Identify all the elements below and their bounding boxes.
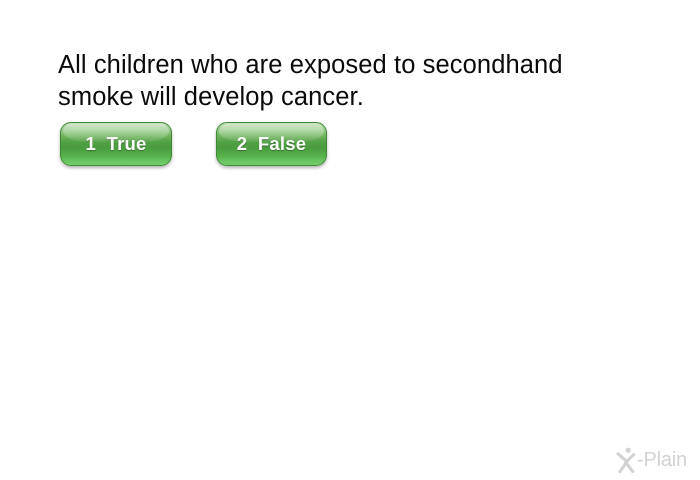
slide-canvas: All children who are exposed to secondha… (0, 0, 700, 480)
question-text: All children who are exposed to secondha… (58, 49, 618, 113)
answer-options-group: 1 True 2 False (60, 122, 660, 172)
answer-button-true-label: 1 True (61, 123, 171, 165)
x-plain-logo: -Plain (616, 446, 696, 474)
answer-button-true[interactable]: 1 True (60, 122, 172, 166)
x-plain-figure-icon (616, 447, 638, 473)
x-plain-logo-text: -Plain (637, 450, 687, 470)
answer-button-false[interactable]: 2 False (216, 122, 327, 166)
answer-button-false-label: 2 False (217, 123, 326, 165)
